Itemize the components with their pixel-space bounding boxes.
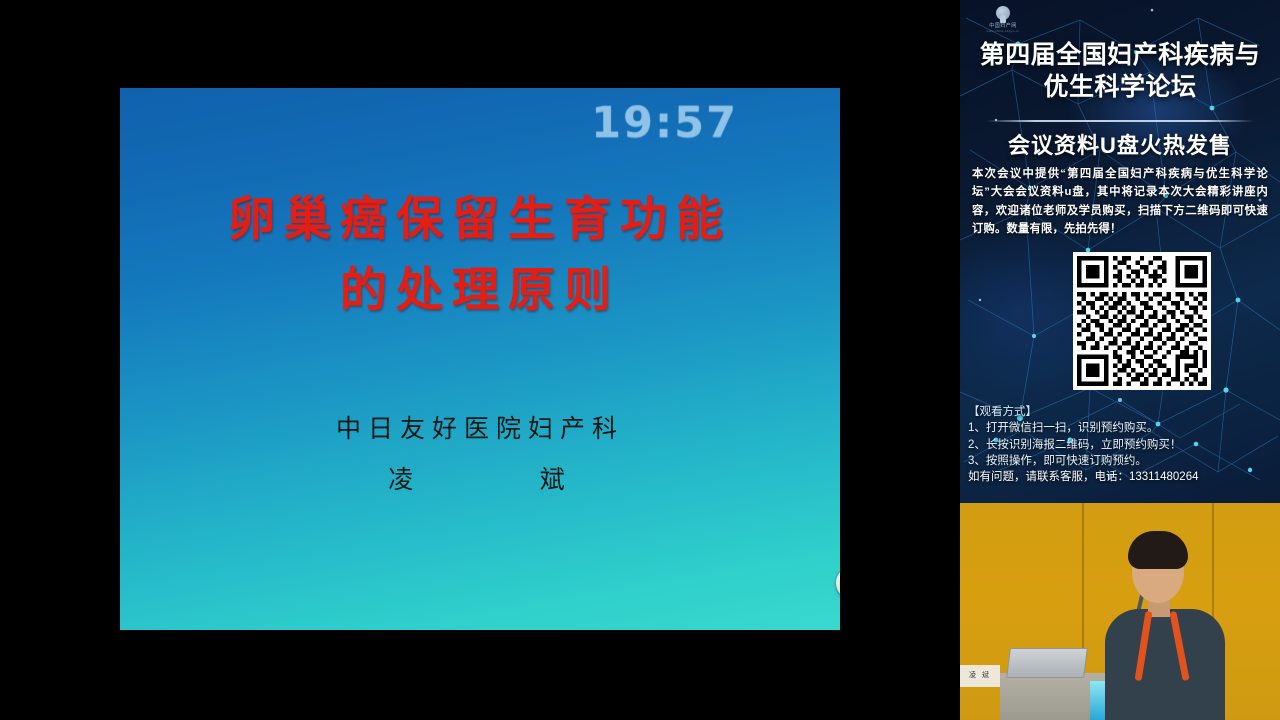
speaker-video-feed[interactable]: 凌 斌 (960, 503, 1280, 720)
poster-title: 第四届全国妇产科疾病与 优生科学论坛 (968, 40, 1272, 103)
name-plate: 凌 斌 (960, 665, 1000, 687)
speaker-torso (1105, 609, 1225, 720)
laptop (1006, 648, 1088, 678)
speaker-hair (1128, 531, 1188, 569)
logo-name: 中国妇产网 (989, 22, 1017, 29)
customer-service-contact: 如有问题，请联系客服，电话：13311480264 (968, 469, 1274, 485)
poster-subtitle: 会议资料U盘火热发售 (960, 128, 1280, 160)
how-to-step-3: 3、按照操作，即可快速订购预约。 (968, 453, 1274, 469)
slide-organization: 中日友好医院妇产科 (120, 409, 840, 445)
promo-poster[interactable]: 中国妇产网 www.china-obgyn.cn 第四届全国妇产科疾病与 优生科… (960, 0, 1280, 503)
sidebar: 中国妇产网 www.china-obgyn.cn 第四届全国妇产科疾病与 优生科… (960, 0, 1280, 720)
site-logo[interactable]: 中国妇产网 www.china-obgyn.cn (972, 4, 1034, 34)
slide-presenter-name: 凌 斌 (120, 460, 840, 496)
network-speed-widget[interactable]: 54% ▲ 0K/s ▼ 0K/s + (836, 567, 840, 599)
cpu-usage-gauge[interactable]: 54% (839, 570, 840, 597)
presentation-stage[interactable]: 19:57 卵巢癌保留生育功能 的处理原则 中日友好医院妇产科 凌 斌 54% … (0, 0, 960, 720)
how-to-step-2: 2、长按识别海报二维码，立即预约购买！ (968, 437, 1274, 453)
clock-overlay: 19:57 (591, 98, 738, 148)
poster-description: 本次会议中提供“第四届全国妇产科疾病与优生科学论坛”大会会议资料u盘，其中将记录… (972, 165, 1268, 238)
how-to-watch-block: 【观看方式】 1、打开微信扫一扫，识别预约购买。 2、长按识别海报二维码，立即预… (968, 404, 1274, 486)
screen: 19:57 卵巢癌保留生育功能 的处理原则 中日友好医院妇产科 凌 斌 54% … (0, 0, 1280, 720)
qr-code-image (1077, 256, 1207, 386)
qr-code[interactable] (1073, 252, 1211, 390)
logo-subtitle: www.china-obgyn.cn (987, 29, 1020, 33)
logo-mark-icon (996, 6, 1010, 20)
slide-title: 卵巢癌保留生育功能 的处理原则 (120, 184, 840, 327)
how-to-step-1: 1、打开微信扫一扫，识别预约购买。 (968, 420, 1274, 436)
poster-divider (986, 120, 1254, 122)
name-plate-label: 凌 斌 (960, 665, 1000, 687)
how-to-heading: 【观看方式】 (968, 404, 1274, 420)
slide-canvas[interactable]: 19:57 卵巢癌保留生育功能 的处理原则 中日友好医院妇产科 凌 斌 54% … (120, 88, 840, 630)
speaker-person (1100, 523, 1230, 720)
